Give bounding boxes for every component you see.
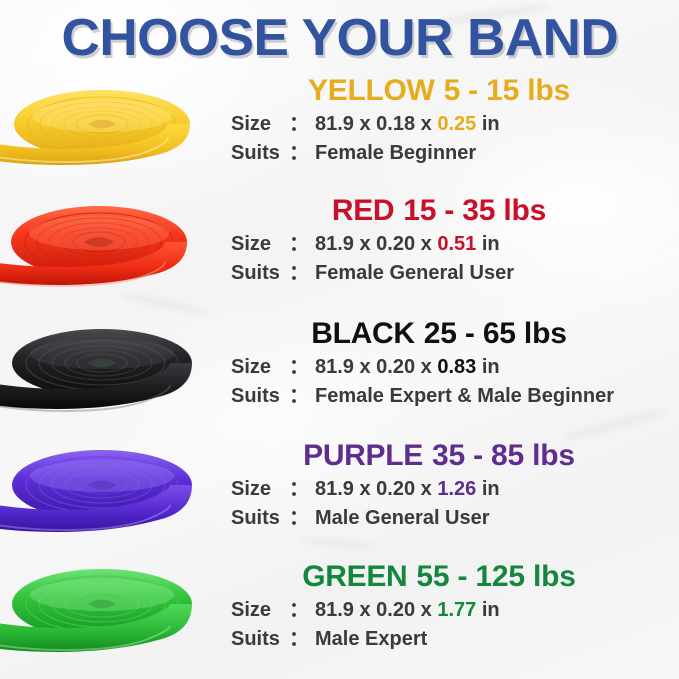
band-size-row-purple: Size ： 81.9 x 0.20 x 1.26 in xyxy=(205,475,679,504)
band-row-green: GREEN55 - 125 lbs Size ： 81.9 x 0.20 x 1… xyxy=(0,558,679,678)
band-weight: 25 - 65 lbs xyxy=(424,317,567,350)
size-colon: ： xyxy=(289,110,315,139)
suits-colon: ： xyxy=(289,625,315,654)
size-value: 81.9 x 0.20 x 1.26 in xyxy=(315,475,500,504)
band-name: YELLOW xyxy=(308,74,435,107)
band-heading-red: RED15 - 35 lbs xyxy=(205,192,679,230)
band-heading-yellow: YELLOW5 - 15 lbs xyxy=(205,72,679,110)
size-label: Size xyxy=(231,475,289,504)
size-colon: ： xyxy=(289,596,315,625)
band-name: RED xyxy=(332,194,394,227)
size-prefix: 81.9 x 0.20 x xyxy=(315,356,437,378)
suits-value: Male Expert xyxy=(315,625,427,654)
size-unit: in xyxy=(476,478,499,500)
suits-label: Suits xyxy=(231,139,289,168)
size-prefix: 81.9 x 0.20 x xyxy=(315,233,437,255)
size-unit: in xyxy=(476,356,499,378)
suits-colon: ： xyxy=(289,504,315,533)
band-name: GREEN xyxy=(302,560,407,593)
size-highlight: 0.83 xyxy=(437,356,476,378)
band-weight: 5 - 15 lbs xyxy=(444,74,570,107)
size-highlight: 0.25 xyxy=(437,113,476,135)
infographic-page: CHOOSE YOUR BAND xyxy=(0,0,679,679)
band-info-red: RED15 - 35 lbs Size ： 81.9 x 0.20 x 0.51… xyxy=(205,192,679,312)
band-image-red xyxy=(0,192,209,312)
suits-value: Female Beginner xyxy=(315,139,476,168)
size-unit: in xyxy=(476,113,499,135)
size-colon: ： xyxy=(289,353,315,382)
band-size-row-black: Size ： 81.9 x 0.20 x 0.83 in xyxy=(205,353,679,382)
size-highlight: 0.51 xyxy=(437,233,476,255)
band-info-green: GREEN55 - 125 lbs Size ： 81.9 x 0.20 x 1… xyxy=(205,558,679,678)
band-row-purple: PURPLE35 - 85 lbs Size ： 81.9 x 0.20 x 1… xyxy=(0,437,679,557)
band-name: PURPLE xyxy=(303,439,423,472)
size-prefix: 81.9 x 0.18 x xyxy=(315,113,437,135)
size-prefix: 81.9 x 0.20 x xyxy=(315,599,437,621)
band-name: BLACK xyxy=(311,317,415,350)
band-heading-black: BLACK25 - 65 lbs xyxy=(205,315,679,353)
band-image-black xyxy=(0,315,209,435)
size-value: 81.9 x 0.18 x 0.25 in xyxy=(315,110,500,139)
band-size-row-green: Size ： 81.9 x 0.20 x 1.77 in xyxy=(205,596,679,625)
band-size-row-red: Size ： 81.9 x 0.20 x 0.51 in xyxy=(205,230,679,259)
band-row-yellow: YELLOW5 - 15 lbs Size ： 81.9 x 0.18 x 0.… xyxy=(0,72,679,192)
size-prefix: 81.9 x 0.20 x xyxy=(315,478,437,500)
band-suits-row-red: Suits ： Female General User xyxy=(205,259,679,288)
size-unit: in xyxy=(476,599,499,621)
suits-colon: ： xyxy=(289,139,315,168)
suits-label: Suits xyxy=(231,504,289,533)
band-image-purple xyxy=(0,437,209,557)
suits-value: Female Expert & Male Beginner xyxy=(315,382,614,411)
band-weight: 15 - 35 lbs xyxy=(403,194,546,227)
band-info-purple: PURPLE35 - 85 lbs Size ： 81.9 x 0.20 x 1… xyxy=(205,437,679,557)
band-row-red: RED15 - 35 lbs Size ： 81.9 x 0.20 x 0.51… xyxy=(0,192,679,312)
size-unit: in xyxy=(476,233,499,255)
size-label: Size xyxy=(231,110,289,139)
size-highlight: 1.26 xyxy=(437,478,476,500)
suits-colon: ： xyxy=(289,382,315,411)
band-weight: 55 - 125 lbs xyxy=(416,560,575,593)
size-value: 81.9 x 0.20 x 1.77 in xyxy=(315,596,500,625)
band-heading-purple: PURPLE35 - 85 lbs xyxy=(205,437,679,475)
suits-label: Suits xyxy=(231,382,289,411)
page-title: CHOOSE YOUR BAND xyxy=(61,8,618,68)
size-colon: ： xyxy=(289,230,315,259)
size-colon: ： xyxy=(289,475,315,504)
size-label: Size xyxy=(231,230,289,259)
band-heading-green: GREEN55 - 125 lbs xyxy=(205,558,679,596)
band-size-row-yellow: Size ： 81.9 x 0.18 x 0.25 in xyxy=(205,110,679,139)
suits-value: Male General User xyxy=(315,504,490,533)
band-suits-row-green: Suits ： Male Expert xyxy=(205,625,679,654)
size-label: Size xyxy=(231,353,289,382)
band-suits-row-yellow: Suits ： Female Beginner xyxy=(205,139,679,168)
size-highlight: 1.77 xyxy=(437,599,476,621)
band-row-black: BLACK25 - 65 lbs Size ： 81.9 x 0.20 x 0.… xyxy=(0,315,679,435)
suits-value: Female General User xyxy=(315,259,514,288)
suits-colon: ： xyxy=(289,259,315,288)
band-info-yellow: YELLOW5 - 15 lbs Size ： 81.9 x 0.18 x 0.… xyxy=(205,72,679,192)
band-info-black: BLACK25 - 65 lbs Size ： 81.9 x 0.20 x 0.… xyxy=(205,315,679,435)
band-weight: 35 - 85 lbs xyxy=(432,439,575,472)
suits-label: Suits xyxy=(231,625,289,654)
page-title-container: CHOOSE YOUR BAND xyxy=(0,8,679,68)
band-suits-row-black: Suits ： Female Expert & Male Beginner xyxy=(205,382,679,411)
suits-label: Suits xyxy=(231,259,289,288)
band-image-green xyxy=(0,558,209,678)
band-image-yellow xyxy=(0,72,209,192)
size-value: 81.9 x 0.20 x 0.83 in xyxy=(315,353,500,382)
band-suits-row-purple: Suits ： Male General User xyxy=(205,504,679,533)
size-value: 81.9 x 0.20 x 0.51 in xyxy=(315,230,500,259)
size-label: Size xyxy=(231,596,289,625)
